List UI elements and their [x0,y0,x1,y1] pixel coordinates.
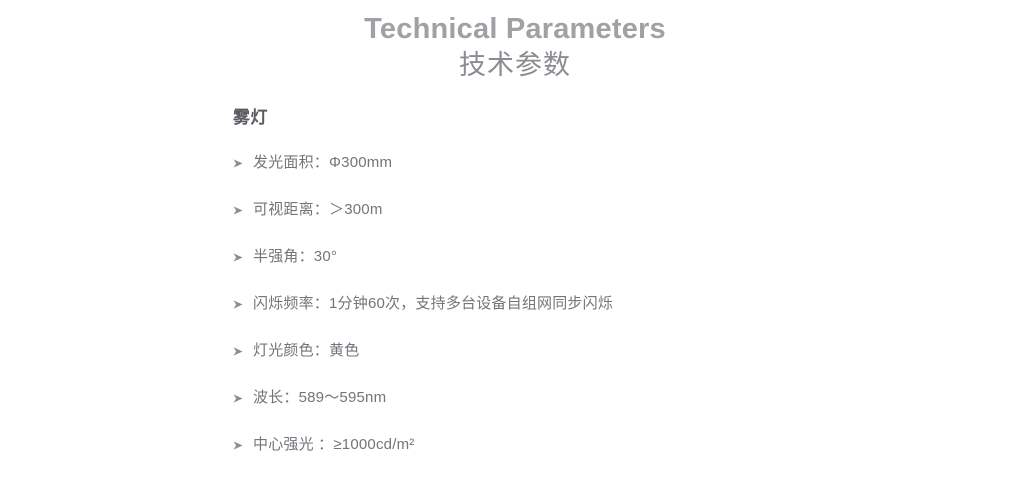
arrowhead-bullet-icon [233,246,253,262]
spec-text: 闪烁频率：1分钟60次，支持多台设备自组网同步闪烁 [253,293,613,315]
arrowhead-bullet-icon [233,434,253,450]
page-title-block: Technical Parameters 技术参数 [0,0,1030,82]
list-item: 可视距离：＞300m [233,199,1030,246]
list-item: 中心强光 ：≥1000cd/m² [233,434,1030,481]
arrowhead-bullet-icon [233,387,253,403]
specs-content: 雾灯 发光面积：Φ300mm 可视距离：＞300m [0,82,1030,481]
page-title-english: Technical Parameters [0,11,1030,47]
spec-text: 中心强光 ：≥1000cd/m² [253,434,414,456]
section-heading-fog-light: 雾灯 [233,106,1030,130]
arrowhead-bullet-icon [233,152,253,168]
list-item: 发光面积：Φ300mm [233,152,1030,199]
spec-text: 半强角：30° [253,246,337,268]
list-item: 波长：589～595nm [233,387,1030,434]
arrowhead-bullet-icon [233,340,253,356]
technical-parameters-page: Technical Parameters 技术参数 雾灯 发光面积：Φ300mm [0,0,1030,485]
list-item: 半强角：30° [233,246,1030,293]
spec-text: 可视距离：＞300m [253,199,383,221]
spec-text: 发光面积：Φ300mm [253,152,392,174]
list-item: 灯光颜色：黄色 [233,340,1030,387]
spec-text: 波长：589～595nm [253,387,386,409]
spec-text: 灯光颜色：黄色 [253,340,359,362]
list-item: 闪烁频率：1分钟60次，支持多台设备自组网同步闪烁 [233,293,1030,340]
page-title-chinese: 技术参数 [0,48,1030,82]
arrowhead-bullet-icon [233,199,253,215]
spec-list: 发光面积：Φ300mm 可视距离：＞300m 半强角：30° [233,152,1030,481]
arrowhead-bullet-icon [233,293,253,309]
